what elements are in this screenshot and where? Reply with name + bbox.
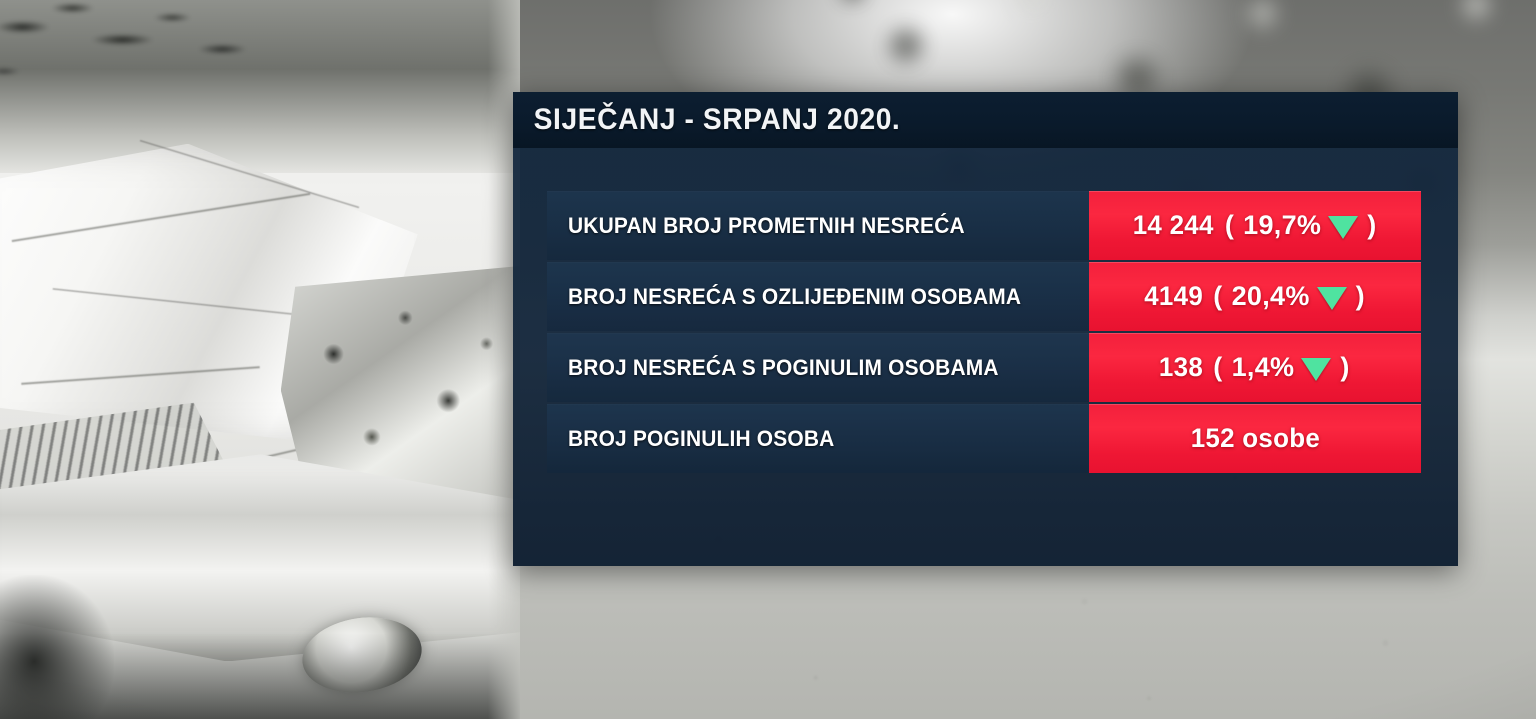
broadcast-graphic-screen: SIJEČANJ - SRPANJ 2020. UKUPAN BROJ PROM… — [0, 0, 1536, 719]
row-label-text: BROJ POGINULIH OSOBA — [568, 426, 834, 452]
arrow-down-icon — [1301, 358, 1331, 381]
row-value-cell: 152 osobe — [1089, 404, 1421, 473]
close-paren: ) — [1338, 352, 1351, 383]
row-label-cell: UKUPAN BROJ PROMETNIH NESREĆA — [547, 191, 1089, 260]
table-row: BROJ POGINULIH OSOBA 152 osobe — [547, 404, 1421, 473]
row-label-cell: BROJ POGINULIH OSOBA — [547, 404, 1089, 473]
row-value-text: 4149 ( 20,4% ) — [1143, 281, 1367, 312]
close-paren: ) — [1365, 210, 1378, 241]
row-value-text: 152 osobe — [1188, 423, 1323, 454]
row-label-text: BROJ NESREĆA S POGINULIM OSOBAMA — [568, 355, 999, 381]
row-value-cell: 138 ( 1,4% ) — [1089, 333, 1421, 402]
value-number: 152 osobe — [1190, 423, 1319, 454]
crashed-car-photo — [0, 0, 520, 719]
panel-title: SIJEČANJ - SRPANJ 2020. — [513, 103, 900, 137]
value-number: 4149 — [1144, 281, 1203, 312]
statistics-panel: SIJEČANJ - SRPANJ 2020. UKUPAN BROJ PROM… — [513, 92, 1458, 566]
value-percent: 20,4% — [1232, 281, 1310, 312]
statistics-rows: UKUPAN BROJ PROMETNIH NESREĆA 14 244 ( 1… — [547, 191, 1421, 475]
open-paren: ( — [1211, 352, 1224, 383]
row-value-text: 138 ( 1,4% ) — [1158, 352, 1351, 383]
open-paren: ( — [1211, 281, 1224, 312]
value-number: 138 — [1159, 352, 1203, 383]
tree-branches — [0, 0, 291, 144]
row-value-cell: 4149 ( 20,4% ) — [1089, 262, 1421, 331]
table-row: BROJ NESREĆA S OZLIJEĐENIM OSOBAMA 4149 … — [547, 262, 1421, 331]
wheel-shadow — [0, 575, 114, 719]
arrow-down-icon — [1328, 216, 1358, 239]
open-paren: ( — [1223, 210, 1236, 241]
arrow-down-icon — [1317, 287, 1347, 310]
row-label-text: UKUPAN BROJ PROMETNIH NESREĆA — [568, 213, 965, 239]
value-percent: 19,7% — [1243, 210, 1321, 241]
row-value-text: 14 244 ( 19,7% ) — [1131, 210, 1378, 241]
panel-header: SIJEČANJ - SRPANJ 2020. — [513, 92, 1458, 148]
value-number: 14 244 — [1133, 210, 1214, 241]
close-paren: ) — [1354, 281, 1367, 312]
table-row: UKUPAN BROJ PROMETNIH NESREĆA 14 244 ( 1… — [547, 191, 1421, 260]
row-value-cell: 14 244 ( 19,7% ) — [1089, 191, 1421, 260]
value-percent: 1,4% — [1232, 352, 1295, 383]
table-row: BROJ NESREĆA S POGINULIM OSOBAMA 138 ( 1… — [547, 333, 1421, 402]
row-label-cell: BROJ NESREĆA S POGINULIM OSOBAMA — [547, 333, 1089, 402]
row-label-text: BROJ NESREĆA S OZLIJEĐENIM OSOBAMA — [568, 284, 1021, 310]
row-label-cell: BROJ NESREĆA S OZLIJEĐENIM OSOBAMA — [547, 262, 1089, 331]
